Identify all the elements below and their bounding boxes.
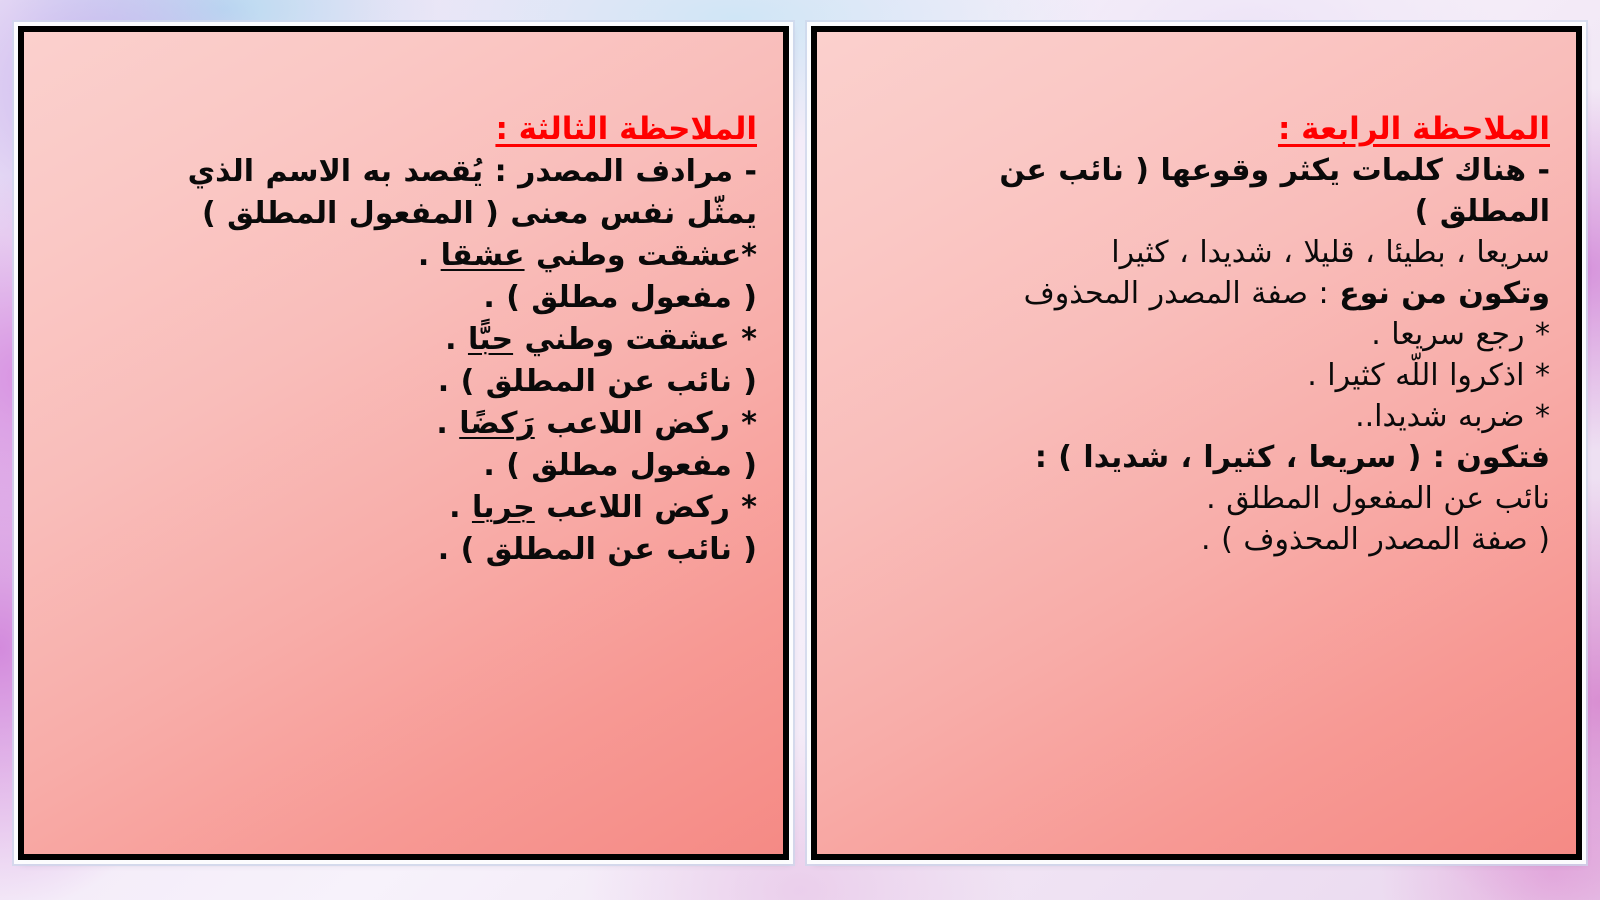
note-line-segment: *عشقت وطني	[525, 238, 757, 273]
note-panel-third-content: الملاحظة الثالثة : - مرادف المصدر : يُقص…	[24, 32, 783, 854]
note-line-segment-underlined: رَكضًا	[459, 406, 535, 441]
note-line-label: ( نائب عن المطلق ) .	[50, 362, 757, 401]
note-line: - مرادف المصدر : يُقصد به الاسم الذي	[50, 152, 757, 191]
note-heading-third: الملاحظة الثالثة :	[50, 110, 757, 149]
note-line: نائب عن المفعول المطلق .	[843, 479, 1550, 518]
note-line-example: *عشقت وطني عشقا .	[50, 236, 757, 275]
note-line-label: ( مفعول مطلق ) .	[50, 446, 757, 485]
note-line: * ضربه شديدا..	[843, 397, 1550, 436]
note-line: فتكون : ( سريعا ، كثيرا ، شديدا ) :	[843, 438, 1550, 477]
note-line: * رجع سريعا .	[843, 315, 1550, 354]
note-line-segment: .	[445, 322, 468, 357]
note-line: - هناك كلمات يكثر وقوعها ( نائب عن	[843, 151, 1550, 190]
note-line-segment: .	[449, 490, 472, 525]
slide-canvas: الملاحظة الرابعة : - هناك كلمات يكثر وقو…	[0, 0, 1600, 900]
note-line-segment: * ركض اللاعب	[535, 406, 757, 441]
note-line: سريعا ، بطيئا ، قليلا ، شديدا ، كثيرا	[843, 233, 1550, 272]
note-line-segment-underlined: جريا	[472, 490, 535, 525]
note-line-segment: .	[436, 406, 459, 441]
note-line-segment: وتكون من نوع	[1339, 276, 1550, 311]
note-line-segment: * عشقت وطني	[513, 322, 757, 357]
note-line-segment-underlined: عشقا	[441, 238, 525, 273]
note-heading-fourth: الملاحظة الرابعة :	[843, 110, 1550, 149]
note-line: يمثّل نفس معنى ( المفعول المطلق )	[50, 194, 757, 233]
note-line-label: ( مفعول مطلق ) .	[50, 278, 757, 317]
note-line: المطلق )	[843, 192, 1550, 231]
note-panel-fourth-content: الملاحظة الرابعة : - هناك كلمات يكثر وقو…	[817, 32, 1576, 854]
note-line-example: * ركض اللاعب رَكضًا .	[50, 404, 757, 443]
note-line-segment: : صفة المصدر المحذوف	[1024, 276, 1340, 311]
note-line-example: * ركض اللاعب جريا .	[50, 488, 757, 527]
note-line-mixed: وتكون من نوع : صفة المصدر المحذوف	[843, 274, 1550, 313]
note-line-segment: * ركض اللاعب	[535, 490, 757, 525]
note-line: ( صفة المصدر المحذوف ) .	[843, 520, 1550, 559]
note-panel-fourth: الملاحظة الرابعة : - هناك كلمات يكثر وقو…	[811, 26, 1582, 860]
note-line-example: * عشقت وطني حبًّا .	[50, 320, 757, 359]
note-panel-third: الملاحظة الثالثة : - مرادف المصدر : يُقص…	[18, 26, 789, 860]
note-line-segment: .	[418, 238, 441, 273]
note-line: * اذكروا اللّه كثيرا .	[843, 356, 1550, 395]
note-line-label: ( نائب عن المطلق ) .	[50, 530, 757, 569]
note-line-segment-underlined: حبًّا	[468, 322, 513, 357]
